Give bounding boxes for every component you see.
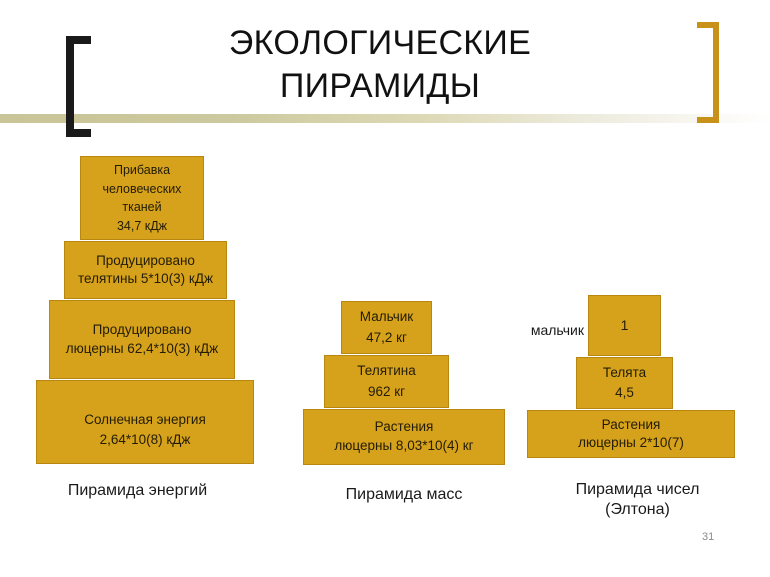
bracket-right-stem xyxy=(713,22,719,123)
block-text-line: люцерны 8,03*10(4) кг xyxy=(334,437,473,456)
pyramid-numbers-level-boy-count: 1 xyxy=(588,295,661,356)
pyramid-energy-level-alfalfa-produced: Продуцировано люцерны 62,4*10(3) кДж xyxy=(49,300,235,379)
decorative-right-bracket xyxy=(697,22,719,123)
block-text-line: Телятина xyxy=(357,363,415,379)
pyramid-numbers-caption: Пирамида чисел (Элтона) xyxy=(535,480,740,520)
block-text-line: Прибавка xyxy=(114,163,170,177)
bracket-left-top-arm xyxy=(66,36,91,44)
block-text-line: 962 кг xyxy=(368,384,405,400)
block-text-line: человеческих xyxy=(103,182,182,196)
block-text-line: Солнечная энергия xyxy=(84,410,206,430)
slide-title: ЭКОЛОГИЧЕСКИЕ ПИРАМИДЫ xyxy=(95,22,665,108)
pyramid-numbers-level-alfalfa-count: Растения люцерны 2*10(7) xyxy=(527,410,735,458)
block-text-line: люцерны 62,4*10(3) кДж xyxy=(66,340,218,358)
pyramid-mass-level-boy: Мальчик 47,2 кг xyxy=(341,301,432,354)
block-text-line: люцерны 2*10(7) xyxy=(578,434,684,452)
decorative-left-bracket xyxy=(66,36,91,137)
title-divider-rule xyxy=(0,114,770,123)
pyramid-mass-level-veal: Телятина 962 кг xyxy=(324,355,449,408)
block-text-line: Продуцировано xyxy=(93,321,192,339)
bracket-right-bottom-arm xyxy=(697,117,719,123)
pyramid-mass-caption: Пирамида масс xyxy=(295,485,513,505)
block-text-line: 1 xyxy=(621,317,629,333)
block-text-line: Продуцировано xyxy=(96,252,195,270)
block-text-line: 4,5 xyxy=(615,385,634,401)
bracket-left-stem xyxy=(66,36,74,137)
block-text-line: телятины 5*10(3) кДж xyxy=(78,270,213,288)
page-number: 31 xyxy=(702,531,714,543)
bracket-right-top-arm xyxy=(697,22,719,28)
bracket-left-bottom-arm xyxy=(66,129,91,137)
block-text-line: 47,2 кг xyxy=(366,330,407,346)
block-text-line: тканей xyxy=(122,200,161,214)
pyramid-mass-level-alfalfa: Растения люцерны 8,03*10(4) кг xyxy=(303,409,505,465)
block-text-line: Растения xyxy=(375,418,434,437)
block-text-line: Телята xyxy=(603,365,646,381)
pyramid-numbers-level-calves-count: Телята 4,5 xyxy=(576,357,673,409)
pyramid-energy-level-human-tissue-gain: Прибавка человеческих тканей 34,7 кДж xyxy=(80,156,204,240)
pyramid-energy-level-veal-produced: Продуцировано телятины 5*10(3) кДж xyxy=(64,241,227,299)
pyramid-energy-level-solar-energy: Солнечная энергия 2,64*10(8) кДж xyxy=(36,380,254,464)
slide-canvas: { "slide": { "title": "ЭКОЛОГИЧЕСКИЕ\nПИ… xyxy=(0,0,770,577)
block-text-line: Растения xyxy=(602,416,661,434)
block-text-line: Мальчик xyxy=(360,309,413,325)
pyramid-energy-caption: Пирамида энергий xyxy=(25,481,250,501)
block-text-line: 2,64*10(8) кДж xyxy=(100,430,191,450)
block-text-line: 34,7 кДж xyxy=(117,219,167,233)
pyramid-numbers-external-label: мальчик xyxy=(512,322,584,338)
